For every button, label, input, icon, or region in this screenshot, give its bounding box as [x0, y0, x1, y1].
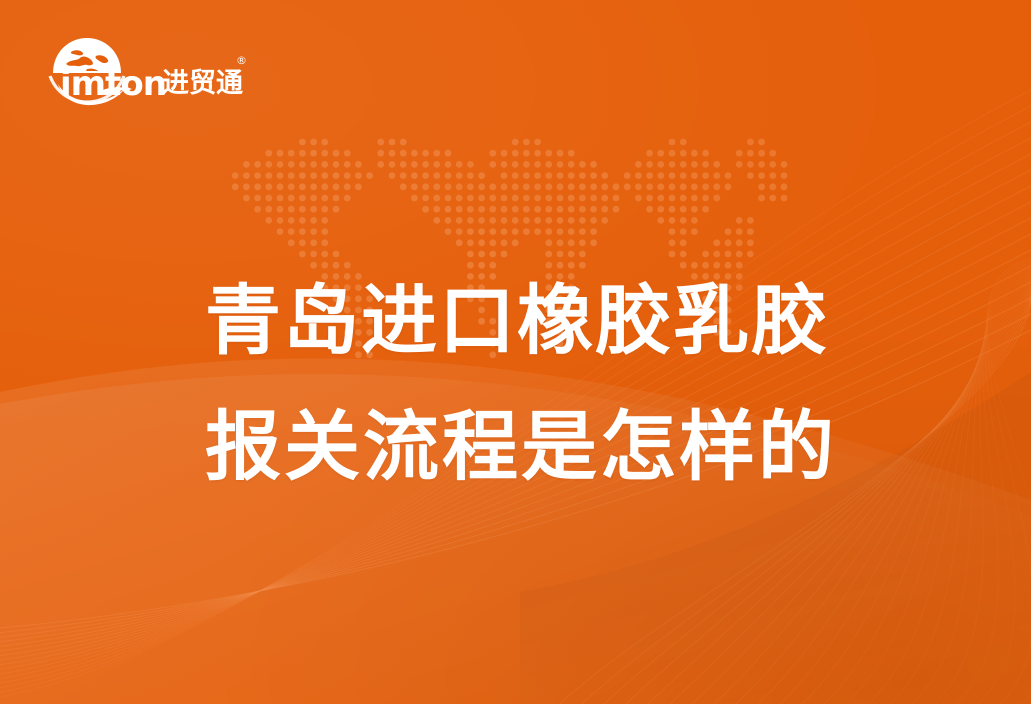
logo-wordmark: imton — [60, 64, 166, 104]
headline-line-2: 报关流程是怎样的 — [205, 384, 865, 510]
promo-banner: imton 进贸通 ® 青岛进口橡胶乳胶 报关流程是怎样的 — [0, 0, 1031, 704]
headline-block: 青岛进口橡胶乳胶 报关流程是怎样的 — [205, 258, 865, 510]
logo-chinese-name: 进贸通 — [162, 68, 243, 99]
logo-trademark: ® — [236, 54, 247, 67]
brand-logo[interactable]: imton 进贸通 ® — [40, 28, 250, 108]
headline-line-1: 青岛进口橡胶乳胶 — [205, 258, 865, 384]
